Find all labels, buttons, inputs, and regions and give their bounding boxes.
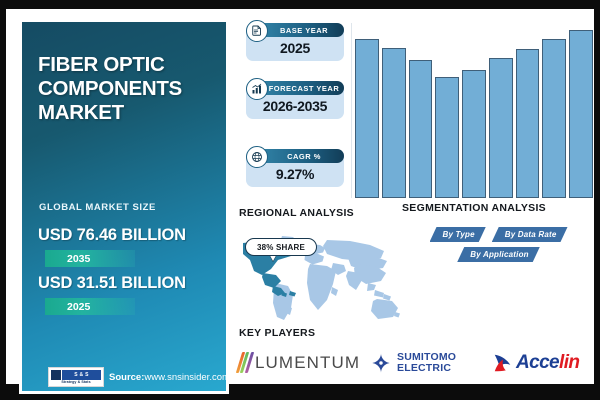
stat-label: BASE YEAR <box>264 23 344 37</box>
bar-9 <box>569 30 593 198</box>
bar-3 <box>409 60 433 198</box>
sns-logo-mark: S & S <box>62 370 101 380</box>
report-document-icon <box>246 20 268 42</box>
segmentation-pill-row-2: By Application <box>401 247 596 262</box>
accelink-word-blue: Acce <box>516 352 559 373</box>
stat-value: 9.27% <box>246 166 344 182</box>
sumitomo-wordmark: SUMITOMO ELECTRIC <box>397 352 456 375</box>
key-players-logo-row: LUMENTUM SUMITOMO ELECTRIC Accelin <box>238 346 594 380</box>
stat-label: FORECAST YEAR <box>264 81 344 95</box>
accelink-wordmark: Accelin <box>516 352 579 374</box>
sumitomo-line2: ELECTRIC <box>397 363 456 375</box>
bar-7 <box>516 49 540 198</box>
stat-value: 2025 <box>246 40 344 56</box>
source-prefix: Source: <box>109 372 144 383</box>
source-row: S & S Strategy & Stats Source:www.snsins… <box>48 367 226 387</box>
segmentation-analysis-title: SEGMENTATION ANALYSIS <box>355 202 593 214</box>
accelink-word-red: lin <box>559 352 579 373</box>
forecast-market-value: USD 76.46 BILLION <box>38 226 186 245</box>
accelink-arrow-icon <box>492 352 514 374</box>
segmentation-pill-row-1: By Type By Data Rate <box>401 227 596 242</box>
lighthouse-icon <box>51 370 61 380</box>
infographic-canvas: FIBER OPTIC COMPONENTS MARKET GLOBAL MAR… <box>0 0 600 400</box>
bar-5 <box>462 70 486 198</box>
sns-logo-tagline: Strategy & Stats <box>61 380 90 385</box>
global-market-size-label: GLOBAL MARKET SIZE <box>39 202 156 213</box>
segmentation-bar-chart <box>355 26 593 198</box>
sumitomo-electric-logo: SUMITOMO ELECTRIC <box>370 352 492 375</box>
stat-card-base-year: 2025 BASE YEAR <box>246 23 344 61</box>
stat-card-cagr: 9.27% CAGR % <box>246 149 344 187</box>
segment-pill-by-data-rate[interactable]: By Data Rate <box>492 227 568 242</box>
bar-8 <box>542 39 566 198</box>
stat-value: 2026-2035 <box>246 98 344 114</box>
bar-chart-bars <box>355 26 593 198</box>
source-link[interactable]: Source:www.snsinsider.com <box>109 372 226 383</box>
panel-divider <box>351 23 352 198</box>
bar-chart-growth-icon <box>246 78 268 100</box>
left-summary-panel: FIBER OPTIC COMPONENTS MARKET GLOBAL MAR… <box>22 22 226 391</box>
page-title: FIBER OPTIC COMPONENTS MARKET <box>38 53 218 126</box>
bar-2 <box>382 48 406 198</box>
bar-1 <box>355 39 379 198</box>
segmentation-pill-group: By Type By Data Rate By Application <box>401 227 596 267</box>
source-url: www.snsinsider.com <box>144 372 226 383</box>
lumentum-logo: LUMENTUM <box>238 352 370 374</box>
base-market-value: USD 31.51 BILLION <box>38 274 186 293</box>
regional-analysis-title: REGIONAL ANALYSIS <box>239 207 354 219</box>
lumentum-wordmark: LUMENTUM <box>255 353 360 373</box>
segment-pill-by-type[interactable]: By Type <box>430 227 486 242</box>
stat-card-forecast-year: 2026-2035 FORECAST YEAR <box>246 81 344 119</box>
accelink-logo: Accelin <box>492 352 579 374</box>
segment-pill-by-application[interactable]: By Application <box>457 247 540 262</box>
infographic-board: FIBER OPTIC COMPONENTS MARKET GLOBAL MAR… <box>6 9 594 384</box>
globe-growth-icon <box>246 146 268 168</box>
stat-label: CAGR % <box>264 149 344 163</box>
sumitomo-diamond-icon <box>370 352 392 374</box>
sns-insider-logo-icon: S & S Strategy & Stats <box>48 367 104 387</box>
bar-4 <box>435 77 459 198</box>
lumentum-slash-icon <box>238 352 252 374</box>
bar-6 <box>489 58 513 198</box>
region-share-badge: 38% SHARE <box>245 238 317 256</box>
key-players-title: KEY PLAYERS <box>239 327 315 339</box>
base-year-badge: 2025 <box>45 298 135 315</box>
forecast-year-badge: 2035 <box>45 250 135 267</box>
